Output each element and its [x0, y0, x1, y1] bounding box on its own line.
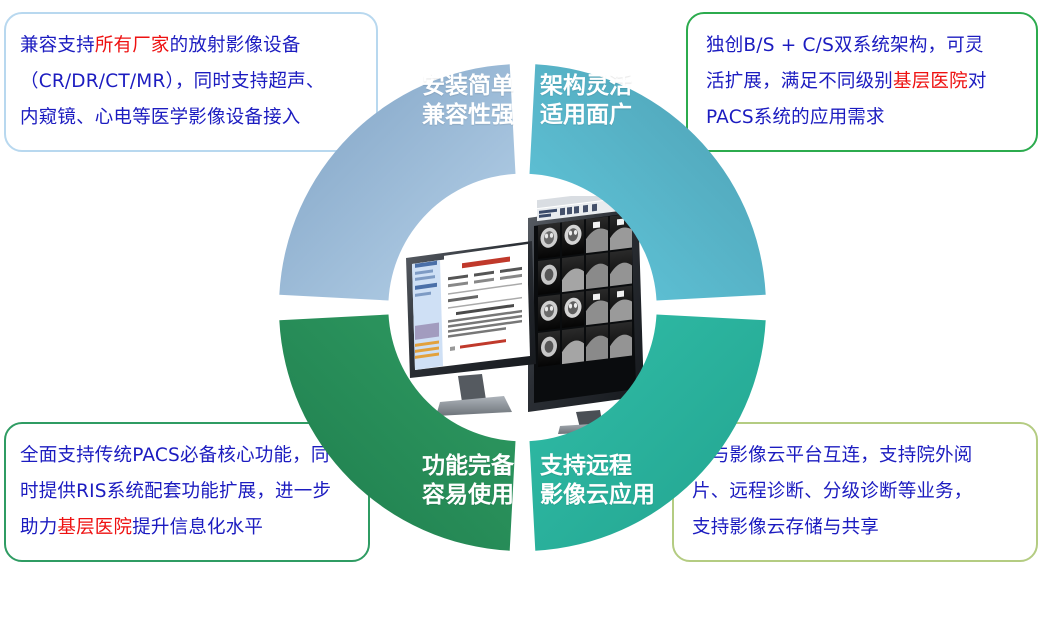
quadrant-label-bottom-right-line-2: 影像云应用 — [540, 481, 655, 510]
callout-tr-l2-b: 对 — [968, 71, 987, 92]
callout-bl-l3-b: 提升信息化水平 — [132, 517, 263, 538]
callout-bottom-left-line-1: 全面支持传统PACS必备核心功能，同 — [20, 438, 368, 474]
callout-bottom-right: 可与影像云平台互连，支持院外阅 片、远程诊断、分级诊断等业务， 支持影像云存储与… — [672, 422, 1038, 562]
diagram-canvas: 兼容支持所有厂家的放射影像设备 （CR/DR/CT/MR），同时支持超声、 内窥… — [0, 0, 1042, 625]
callout-top-left-line-3: 内窥镜、心电等医学影像设备接入 — [20, 100, 376, 136]
callout-top-right-line-3: PACS系统的应用需求 — [706, 100, 1036, 136]
callout-tr-l2-a: 活扩展，满足不同级别 — [706, 71, 893, 92]
ris-monitor — [406, 241, 536, 416]
callout-top-right-line-2: 活扩展，满足不同级别基层医院对 — [706, 64, 1036, 100]
ris-report — [444, 244, 528, 364]
quadrant-label-top-left: 安装简单 兼容性强 — [398, 72, 514, 130]
quadrant-label-bottom-right: 支持远程 影像云应用 — [540, 452, 655, 510]
callout-tr-l2-highlight: 基层医院 — [893, 71, 968, 92]
callout-top-left-line-2: （CR/DR/CT/MR），同时支持超声、 — [20, 64, 376, 100]
quadrant-label-bottom-left-line-2: 容易使用 — [398, 481, 514, 510]
callout-bottom-right-line-1: 可与影像云平台互连，支持院外阅 — [692, 438, 1036, 474]
callout-bl-l3-a: 助力 — [20, 517, 57, 538]
callout-bottom-left: 全面支持传统PACS必备核心功能，同 时提供RIS系统配套功能扩展，进一步 助力… — [4, 422, 370, 562]
quadrant-label-top-right-line-1: 架构灵活 — [540, 72, 632, 101]
callout-bottom-right-line-2: 片、远程诊断、分级诊断等业务， — [692, 474, 1036, 510]
callout-top-left: 兼容支持所有厂家的放射影像设备 （CR/DR/CT/MR），同时支持超声、 内窥… — [4, 12, 378, 152]
callout-tl-l1-a: 兼容支持 — [20, 35, 95, 56]
quadrant-label-bottom-right-line-1: 支持远程 — [540, 452, 655, 481]
quadrant-label-top-left-line-1: 安装简单 — [398, 72, 514, 101]
callout-top-left-line-1: 兼容支持所有厂家的放射影像设备 — [20, 28, 376, 64]
callout-top-right-line-1: 独创B/S + C/S双系统架构，可灵 — [706, 28, 1036, 64]
callout-bottom-right-line-3: 支持影像云存储与共享 — [692, 510, 1036, 546]
center-monitors-image — [400, 196, 662, 434]
callout-bottom-left-line-2: 时提供RIS系统配套功能扩展，进一步 — [20, 474, 368, 510]
monitors-illustration — [400, 196, 662, 434]
pacs-monitor — [528, 196, 644, 434]
quadrant-label-bottom-left: 功能完备 容易使用 — [398, 452, 514, 510]
quadrant-label-top-right-line-2: 适用面广 — [540, 101, 632, 130]
quadrant-label-top-left-line-2: 兼容性强 — [398, 101, 514, 130]
callout-tl-l1-b: 的放射影像设备 — [170, 35, 301, 56]
quadrant-label-top-right: 架构灵活 适用面广 — [540, 72, 632, 130]
callout-bl-l3-highlight: 基层医院 — [57, 517, 132, 538]
callout-bottom-left-line-3: 助力基层医院提升信息化水平 — [20, 510, 368, 546]
callout-tl-l1-highlight: 所有厂家 — [95, 35, 170, 56]
callout-top-right: 独创B/S + C/S双系统架构，可灵 活扩展，满足不同级别基层医院对 PACS… — [686, 12, 1038, 152]
quadrant-label-bottom-left-line-1: 功能完备 — [398, 452, 514, 481]
